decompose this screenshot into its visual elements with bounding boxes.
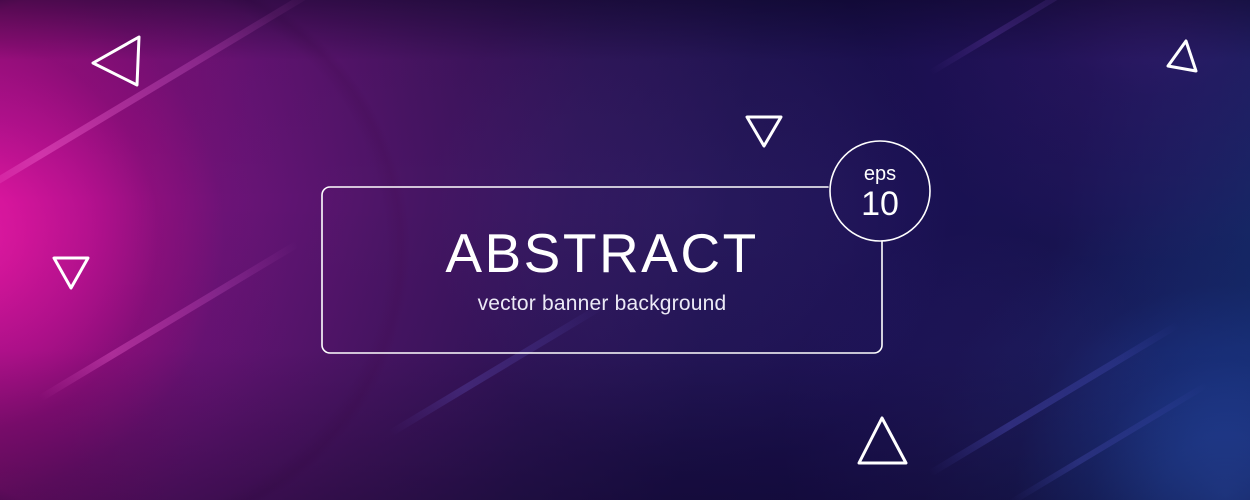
headline-block: ABSTRACT vector banner background (322, 187, 882, 353)
triangle-center-top-icon (747, 117, 781, 146)
triangle-top-right-icon (1168, 41, 1196, 71)
triangle-bottom-center-icon (859, 418, 906, 463)
badge-eps-label: eps (864, 163, 896, 185)
page-title: ABSTRACT (445, 226, 758, 281)
triangle-left-mid-icon (54, 258, 88, 288)
triangle-top-left-icon (93, 37, 139, 85)
abstract-banner: eps 10 ABSTRACT vector banner background (0, 0, 1250, 500)
page-subtitle: vector banner background (478, 293, 727, 314)
